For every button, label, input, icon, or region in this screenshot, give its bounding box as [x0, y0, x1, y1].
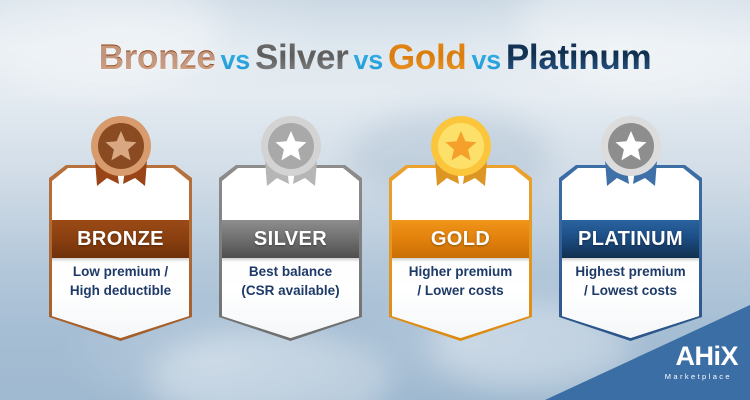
tier-label: GOLD	[431, 228, 490, 251]
tier-label: BRONZE	[77, 228, 164, 251]
tier-badge-silver[interactable]: SILVER Best balance (CSR available)	[222, 168, 359, 338]
star-icon	[445, 130, 477, 162]
tier-desc-line-2: (CSR available)	[226, 281, 355, 300]
tier-badge-platinum[interactable]: PLATINUM Highest premium / Lowest costs	[562, 168, 699, 338]
tier-name-band: GOLD	[392, 220, 529, 258]
tier-name-band: PLATINUM	[562, 220, 699, 258]
tier-desc-line-2: / Lowest costs	[566, 281, 695, 300]
tier-description: Higher premium / Lower costs	[396, 262, 525, 300]
tier-desc-line-1: Low premium /	[56, 262, 185, 281]
tier-desc-line-1: Higher premium	[396, 262, 525, 281]
tier-desc-line-1: Best balance	[226, 262, 355, 281]
star-icon	[275, 130, 307, 162]
tier-desc-line-2: / Lower costs	[396, 281, 525, 300]
star-icon	[615, 130, 647, 162]
tier-label: SILVER	[254, 228, 327, 251]
tier-description: Low premium / High deductible	[56, 262, 185, 300]
tier-label: PLATINUM	[578, 228, 683, 251]
medal-star-icon	[597, 116, 665, 208]
ahix-marketplace-logo[interactable]: AHiX Marketplace	[620, 338, 738, 382]
tier-description: Highest premium / Lowest costs	[566, 262, 695, 300]
tier-desc-line-2: High deductible	[56, 281, 185, 300]
star-icon	[105, 130, 137, 162]
medal-star-icon	[87, 116, 155, 208]
logo-subtitle: Marketplace	[665, 372, 732, 382]
tier-name-band: BRONZE	[52, 220, 189, 258]
tier-desc-line-1: Highest premium	[566, 262, 695, 281]
infographic-canvas: BronzevsSilvervsGoldvsPlatinum BRONZE	[0, 0, 750, 400]
tier-badge-gold[interactable]: GOLD Higher premium / Lower costs	[392, 168, 529, 338]
tier-name-band: SILVER	[222, 220, 359, 258]
logo-wordmark: AHiX	[675, 343, 738, 370]
tier-badge-bronze[interactable]: BRONZE Low premium / High deductible	[52, 168, 189, 338]
medal-star-icon	[257, 116, 325, 208]
medal-star-icon	[427, 116, 495, 208]
tier-description: Best balance (CSR available)	[226, 262, 355, 300]
